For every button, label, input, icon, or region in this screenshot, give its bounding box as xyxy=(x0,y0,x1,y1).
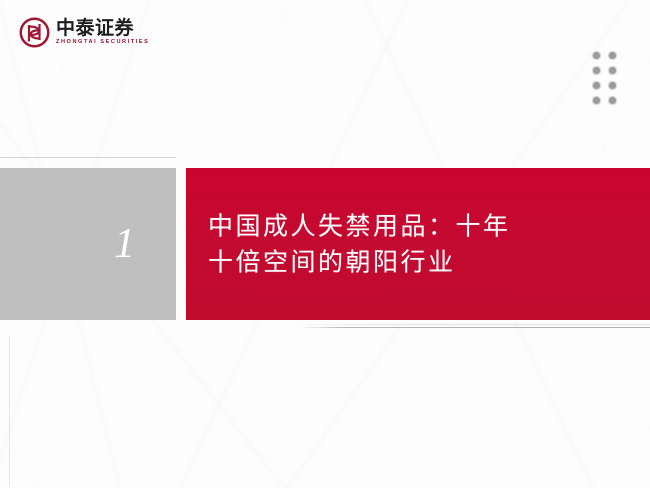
dot xyxy=(609,52,616,59)
divider-under-title xyxy=(300,327,650,328)
dot-grid-icon xyxy=(588,48,620,108)
section-number: 1 xyxy=(114,223,135,265)
brand-name-cn: 中泰证券 xyxy=(56,19,149,38)
section-number-block: 1 xyxy=(0,168,176,320)
dot xyxy=(609,97,616,104)
presentation-slide: 中泰证券 ZHONGTAI SECURITIES 1 中国成人失禁用品：十年 十… xyxy=(0,0,650,488)
dot xyxy=(609,82,616,89)
left-guide-line xyxy=(9,336,10,486)
dot xyxy=(593,67,600,74)
dot xyxy=(609,67,616,74)
zhongtai-circle-logo-icon xyxy=(19,17,50,48)
section-title-block: 中国成人失禁用品：十年 十倍空间的朝阳行业 xyxy=(186,168,650,320)
dot xyxy=(593,97,600,104)
brand-logo-text: 中泰证券 ZHONGTAI SECURITIES xyxy=(56,19,149,46)
brand-name-en: ZHONGTAI SECURITIES xyxy=(56,40,149,46)
dot xyxy=(593,52,600,59)
brand-logo: 中泰证券 ZHONGTAI SECURITIES xyxy=(19,17,149,48)
divider-above-number-block xyxy=(0,157,176,158)
dot xyxy=(593,82,600,89)
top-left-accent-bar xyxy=(0,0,27,4)
section-title: 中国成人失禁用品：十年 十倍空间的朝阳行业 xyxy=(208,209,511,280)
divider-under-title-soft xyxy=(286,324,650,325)
